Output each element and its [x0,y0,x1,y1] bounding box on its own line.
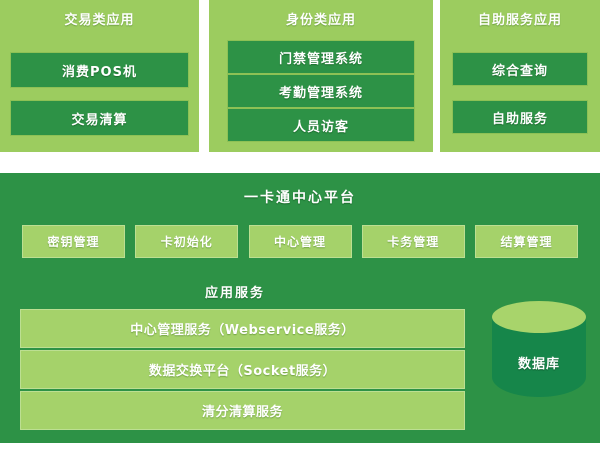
database-label: 数据库 [492,353,586,372]
app-panel-self-service-title: 自助服务应用 [440,9,600,28]
app-panel-identity: 身份类应用 门禁管理系统 考勤管理系统 人员访客 [209,0,433,152]
module-card-service-management[interactable]: 卡务管理 [362,225,465,258]
architecture-diagram: 交易类应用 消费POS机 交易清算 身份类应用 门禁管理系统 考勤管理系统 人员… [0,0,600,450]
module-center-management[interactable]: 中心管理 [249,225,352,258]
center-platform-section: 一卡通中心平台 密钥管理 卡初始化 中心管理 卡务管理 结算管理 应用服务 中心… [0,173,600,443]
module-key-management[interactable]: 密钥管理 [22,225,125,258]
app-box-self-service[interactable]: 自助服务 [452,100,588,134]
service-row-data-exchange-socket[interactable]: 数据交换平台（Socket服务） [20,350,465,389]
service-row-center-management-webservice[interactable]: 中心管理服务（Webservice服务） [20,309,465,348]
database-cylinder: 数据库 [492,301,586,406]
app-box-personnel-visitor[interactable]: 人员访客 [227,108,415,142]
database-cylinder-top [492,301,586,333]
app-box-comprehensive-query[interactable]: 综合查询 [452,52,588,86]
application-services-title: 应用服务 [0,282,470,301]
app-panel-transaction-title: 交易类应用 [0,9,199,28]
module-card-initialization[interactable]: 卡初始化 [135,225,238,258]
module-settlement-management[interactable]: 结算管理 [475,225,578,258]
app-panel-transaction: 交易类应用 消费POS机 交易清算 [0,0,199,152]
app-panel-self-service: 自助服务应用 综合查询 自助服务 [440,0,600,152]
app-box-attendance-system[interactable]: 考勤管理系统 [227,74,415,108]
app-panel-identity-title: 身份类应用 [209,9,433,28]
app-box-consumer-pos[interactable]: 消费POS机 [10,52,189,88]
center-platform-title: 一卡通中心平台 [0,187,600,207]
app-box-transaction-clearing[interactable]: 交易清算 [10,100,189,136]
app-box-access-control-system[interactable]: 门禁管理系统 [227,40,415,74]
platform-module-row: 密钥管理 卡初始化 中心管理 卡务管理 结算管理 [22,225,578,258]
service-row-clearing-settlement[interactable]: 清分清算服务 [20,391,465,430]
